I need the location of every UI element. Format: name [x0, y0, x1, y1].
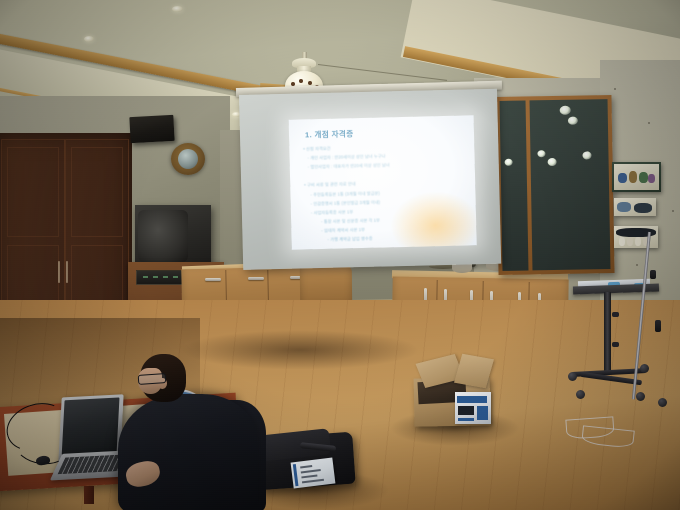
- bag-label-card: [291, 458, 336, 489]
- pole-base-caster: [658, 398, 667, 407]
- cabinet-handle[interactable]: [248, 277, 264, 280]
- slide-line: - 가맹 계약금 납입 영수증: [327, 236, 372, 243]
- framed-picture: [612, 162, 661, 192]
- projected-slide: 1. 개점 자격증 • 신청 자격요건 - 개인 사업자 : 만20세이상 성인…: [289, 115, 477, 249]
- laptop-screen: [62, 397, 120, 454]
- slide-line: - 개인 사업자 : 만20세이상 성인 남녀 누구나: [307, 153, 385, 161]
- product-carton: [455, 392, 491, 424]
- wardrobe-handle: [58, 261, 60, 283]
- slide-line: - 인감증명서 1통 (본인발급 3개월 이내): [311, 200, 381, 208]
- downlight-icon: [172, 6, 183, 12]
- cart-caster: [568, 372, 577, 381]
- cart-caster: [640, 364, 649, 373]
- crt-television: [135, 205, 211, 267]
- cart-height-knob[interactable]: [612, 342, 619, 347]
- window: [495, 95, 614, 275]
- slide-line: - 임대차 계약서 사본 1부: [321, 227, 365, 234]
- slide-line: - 주민등록등본 1통 (3개월 이내 발급분): [310, 191, 380, 199]
- slide-title: 1. 개점 자격증: [305, 128, 354, 140]
- cart-caster: [576, 390, 585, 399]
- slide-line: - 법인사업자 : 대표자가 만20세 이상 성인 남녀: [308, 162, 390, 170]
- photo-scene: 1. 개점 자격증 • 신청 자격요건 - 개인 사업자 : 만20세이상 성인…: [0, 0, 680, 510]
- cart-height-knob[interactable]: [612, 312, 619, 317]
- taped-group-photo: [614, 226, 658, 248]
- wall-clock-icon: [171, 143, 205, 175]
- taped-photo-strip: [614, 198, 656, 216]
- table-leg: [84, 486, 94, 504]
- pole-clamp[interactable]: [655, 320, 661, 332]
- person-torso: [118, 394, 258, 510]
- wardrobe-handle: [66, 261, 68, 283]
- decor-bowl: [452, 264, 472, 273]
- tv-screen: [138, 210, 188, 262]
- wall-speaker-icon: [129, 115, 174, 143]
- av-cart-post: [604, 292, 611, 374]
- cabinet-handle[interactable]: [205, 278, 221, 281]
- slide-line: • 신청 자격요건: [303, 146, 330, 153]
- slide-line: - 사업자등록증 사본 1부: [311, 209, 353, 216]
- cart-caster: [636, 392, 645, 401]
- downlight-icon: [84, 36, 94, 42]
- projector-screen: 1. 개점 자격증 • 신청 자격요건 - 개인 사업자 : 만20세이상 성인…: [239, 89, 501, 270]
- slide-line: - 통장 사본 및 신분증 사본 각 1부: [321, 218, 380, 225]
- slide-line: • 구비 서류 및 관련 자료 안내: [304, 181, 356, 188]
- pole-clamp[interactable]: [650, 270, 656, 279]
- eyeglasses-icon: [138, 373, 167, 385]
